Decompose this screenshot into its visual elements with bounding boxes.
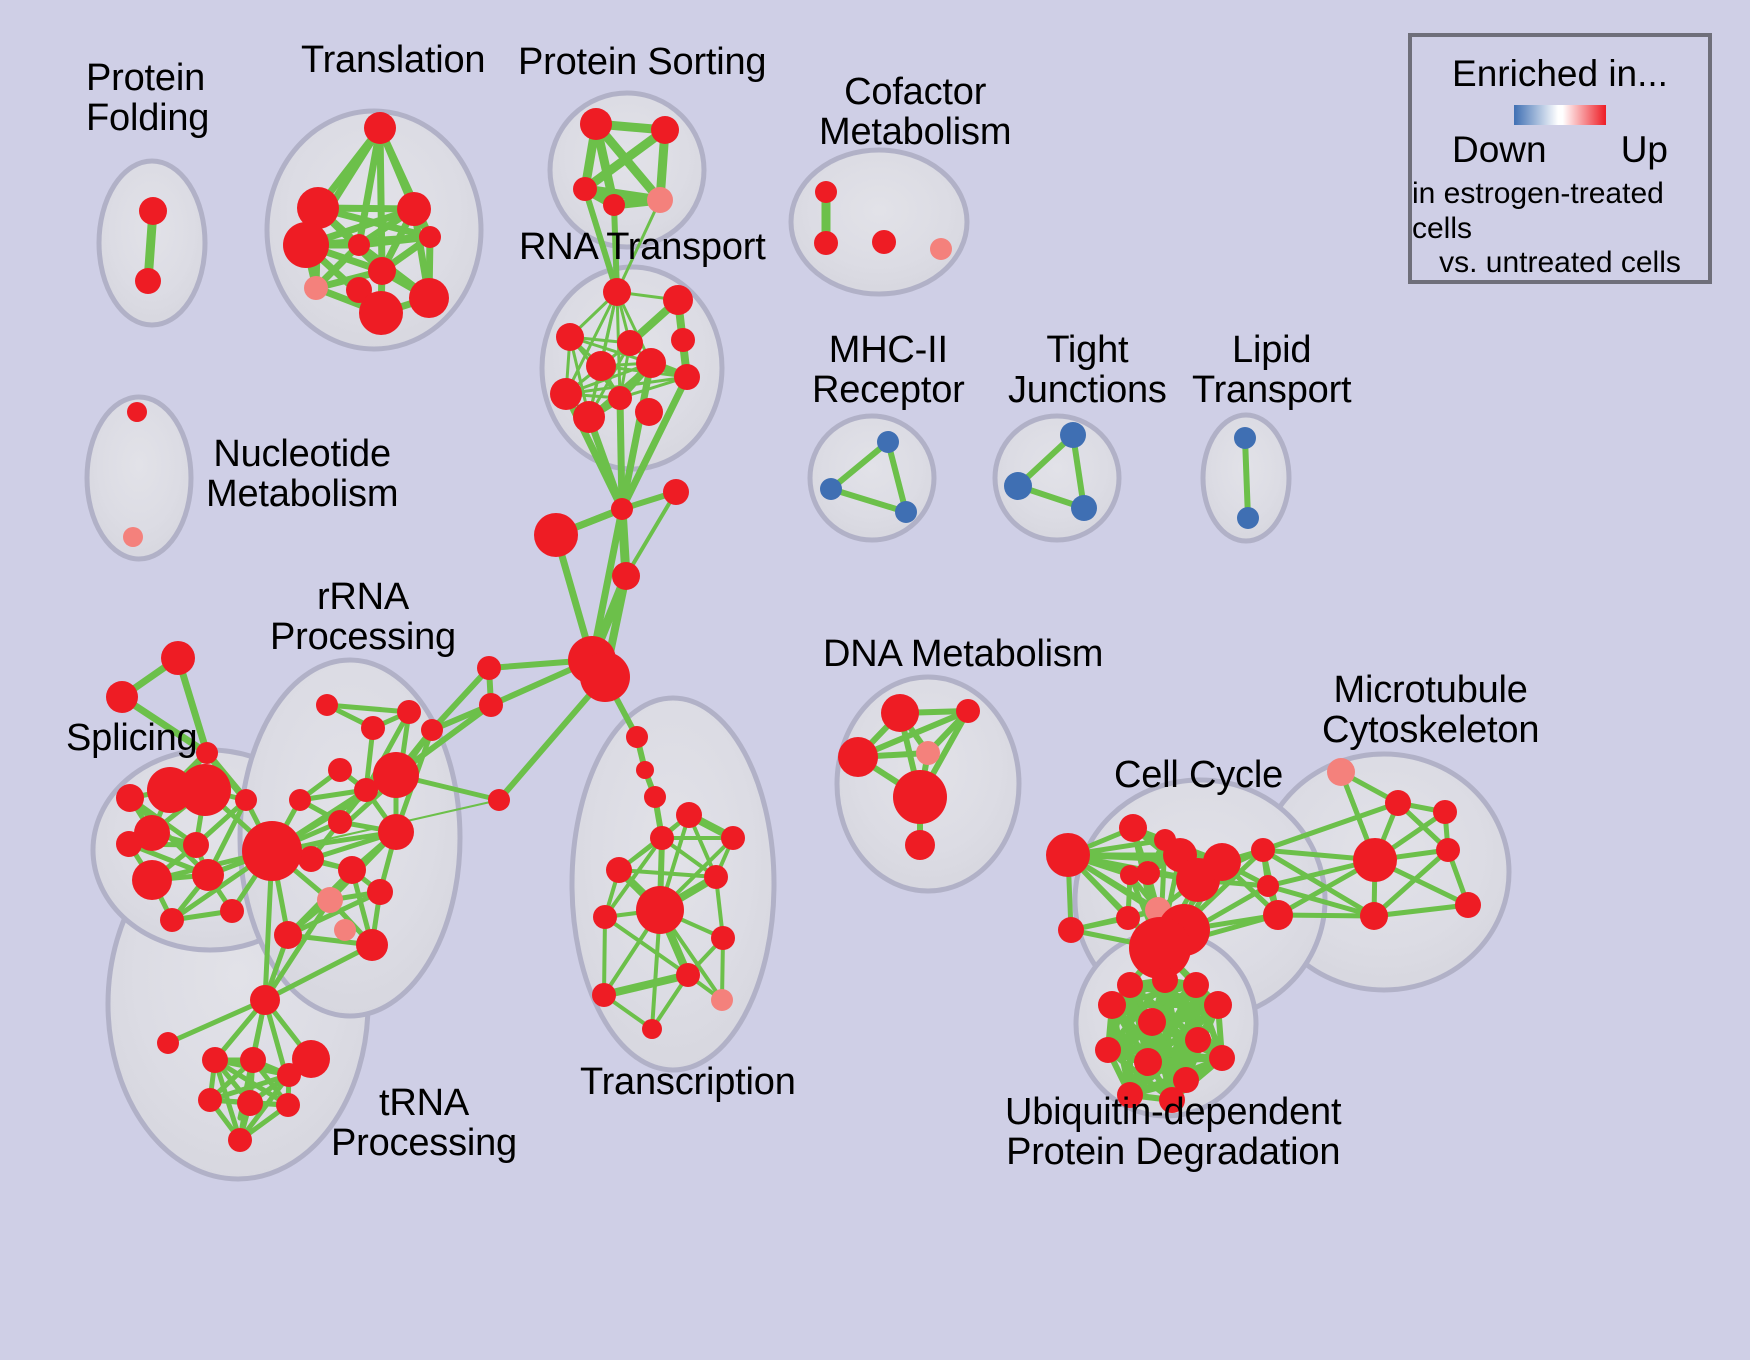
node xyxy=(930,238,952,260)
node xyxy=(240,1047,266,1073)
node xyxy=(877,431,899,453)
node xyxy=(289,789,311,811)
node xyxy=(202,1047,228,1073)
cluster-label-translation: Translation xyxy=(301,40,485,80)
node xyxy=(838,737,878,777)
node xyxy=(479,693,503,717)
color-legend: Enriched in... Down Up in estrogen-treat… xyxy=(1408,33,1712,284)
node xyxy=(132,860,172,900)
legend-caption-line1: in estrogen-treated cells xyxy=(1412,177,1708,245)
node xyxy=(183,832,209,858)
node xyxy=(1046,833,1090,877)
node xyxy=(1237,507,1259,529)
cluster-label-nucleotide-metabolism: NucleotideMetabolism xyxy=(206,434,398,515)
node xyxy=(250,985,280,1015)
node xyxy=(328,758,352,782)
node xyxy=(361,716,385,740)
node xyxy=(1058,917,1084,943)
node xyxy=(617,330,643,356)
node xyxy=(106,681,138,713)
node xyxy=(916,741,940,765)
node xyxy=(711,989,733,1011)
legend-caption-line2: vs. untreated cells xyxy=(1439,246,1681,280)
node xyxy=(1117,972,1143,998)
cluster-hull-transcription xyxy=(572,698,774,1070)
node xyxy=(127,402,147,422)
node xyxy=(235,789,257,811)
cluster-hull-protein-sorting xyxy=(550,93,704,247)
node xyxy=(872,230,896,254)
node xyxy=(1119,814,1147,842)
node xyxy=(123,527,143,547)
node xyxy=(373,752,419,798)
node xyxy=(1134,1048,1162,1076)
node xyxy=(593,905,617,929)
cluster-label-rrna-processing: rRNAProcessing xyxy=(270,577,456,658)
node xyxy=(359,291,403,335)
cluster-label-dna-metabolism: DNA Metabolism xyxy=(823,634,1103,674)
node xyxy=(650,826,674,850)
node xyxy=(608,386,632,410)
node xyxy=(674,364,700,390)
node xyxy=(635,398,663,426)
node xyxy=(636,886,684,934)
node xyxy=(1183,972,1209,998)
node xyxy=(644,786,666,808)
node xyxy=(893,770,947,824)
node xyxy=(1234,427,1256,449)
legend-title: Enriched in... xyxy=(1452,53,1668,95)
node xyxy=(368,257,396,285)
node xyxy=(161,641,195,675)
node xyxy=(1120,865,1140,885)
node xyxy=(276,1093,300,1117)
legend-endpoints: Down Up xyxy=(1452,129,1668,171)
node xyxy=(477,656,501,680)
node xyxy=(192,859,224,891)
legend-high-label: Up xyxy=(1621,129,1668,171)
node xyxy=(895,501,917,523)
node xyxy=(334,919,356,941)
node xyxy=(397,192,431,226)
node xyxy=(651,116,679,144)
cluster-label-trna-processing: tRNAProcessing xyxy=(331,1083,517,1164)
node xyxy=(1209,1045,1235,1071)
node xyxy=(139,197,167,225)
node xyxy=(636,348,666,378)
node xyxy=(228,1128,252,1152)
cluster-hull-cofactor-metabolism xyxy=(791,150,967,294)
node xyxy=(663,285,693,315)
node xyxy=(704,865,728,889)
node xyxy=(237,1090,263,1116)
node xyxy=(1360,902,1388,930)
cluster-label-tight-junctions: TightJunctions xyxy=(1008,330,1167,411)
cluster-label-ubiquitin: Ubiquitin-dependentProtein Degradation xyxy=(1005,1092,1341,1173)
node xyxy=(317,887,343,913)
cluster-label-lipid-transport: LipidTransport xyxy=(1192,330,1351,411)
node xyxy=(160,908,184,932)
node xyxy=(1098,991,1126,1019)
cluster-label-cell-cycle: Cell Cycle xyxy=(1114,755,1283,795)
node xyxy=(274,921,302,949)
node xyxy=(636,761,654,779)
node xyxy=(367,879,393,905)
node xyxy=(603,194,625,216)
node xyxy=(1251,838,1275,862)
node xyxy=(283,222,329,268)
node xyxy=(1095,1037,1121,1063)
node xyxy=(1263,900,1293,930)
node xyxy=(1257,875,1279,897)
node xyxy=(1433,800,1457,824)
cluster-label-protein-sorting: Protein Sorting xyxy=(518,42,766,82)
node xyxy=(356,929,388,961)
node xyxy=(611,498,633,520)
node xyxy=(364,112,396,144)
node xyxy=(881,694,919,732)
node xyxy=(116,831,142,857)
node xyxy=(586,351,616,381)
node xyxy=(550,378,582,410)
node xyxy=(488,789,510,811)
node xyxy=(820,478,842,500)
node xyxy=(157,1032,179,1054)
node xyxy=(580,108,612,140)
node xyxy=(1071,495,1097,521)
node xyxy=(242,821,302,881)
legend-gradient-bar xyxy=(1461,105,1659,125)
cluster-label-protein-folding: ProteinFolding xyxy=(86,58,209,139)
node xyxy=(580,652,630,702)
cluster-hull-mhc-ii-receptor xyxy=(810,416,934,540)
node xyxy=(663,479,689,505)
node xyxy=(573,401,605,433)
node xyxy=(612,562,640,590)
node xyxy=(1353,838,1397,882)
node xyxy=(956,699,980,723)
node xyxy=(606,857,632,883)
node xyxy=(1152,967,1178,993)
node xyxy=(573,177,597,201)
node xyxy=(116,784,144,812)
node xyxy=(815,181,837,203)
node xyxy=(421,719,443,741)
node xyxy=(316,694,338,716)
node xyxy=(338,856,366,884)
node xyxy=(179,764,231,816)
node xyxy=(304,276,328,300)
node xyxy=(642,1019,662,1039)
node xyxy=(1185,1027,1211,1053)
node xyxy=(378,814,414,850)
node xyxy=(409,278,449,318)
node xyxy=(671,328,695,352)
node xyxy=(348,234,370,256)
node xyxy=(135,268,161,294)
node xyxy=(1455,892,1481,918)
node xyxy=(626,726,648,748)
cluster-label-transcription: Transcription xyxy=(580,1062,796,1102)
node xyxy=(328,810,352,834)
node xyxy=(397,700,421,724)
node xyxy=(1385,790,1411,816)
node xyxy=(556,323,584,351)
cluster-label-rna-transport: RNA Transport xyxy=(519,227,766,267)
node xyxy=(592,983,616,1007)
node xyxy=(676,963,700,987)
node xyxy=(676,802,702,828)
node xyxy=(1204,991,1232,1019)
node xyxy=(1060,422,1086,448)
node xyxy=(1116,906,1140,930)
node xyxy=(196,742,218,764)
node xyxy=(1004,472,1032,500)
node xyxy=(647,187,673,213)
node xyxy=(1327,758,1355,786)
node xyxy=(534,513,578,557)
node xyxy=(419,226,441,248)
node xyxy=(277,1063,301,1087)
cluster-label-splicing: Splicing xyxy=(66,718,197,758)
node xyxy=(220,899,244,923)
node xyxy=(1436,838,1460,862)
cluster-label-cofactor-metabolism: CofactorMetabolism xyxy=(819,72,1011,153)
node xyxy=(814,231,838,255)
cluster-label-mhc-ii-receptor: MHC-IIReceptor xyxy=(812,330,965,411)
node xyxy=(354,778,378,802)
node xyxy=(603,278,631,306)
node xyxy=(1138,1008,1166,1036)
node xyxy=(1203,843,1241,881)
cluster-label-microtubule-cytoskeleton: MicrotubuleCytoskeleton xyxy=(1322,670,1539,751)
legend-low-label: Down xyxy=(1452,129,1547,171)
node xyxy=(711,926,735,950)
enrichment-map-figure: ProteinFolding Translation Protein Sorti… xyxy=(0,0,1750,1360)
node xyxy=(905,830,935,860)
node xyxy=(721,826,745,850)
node xyxy=(198,1088,222,1112)
